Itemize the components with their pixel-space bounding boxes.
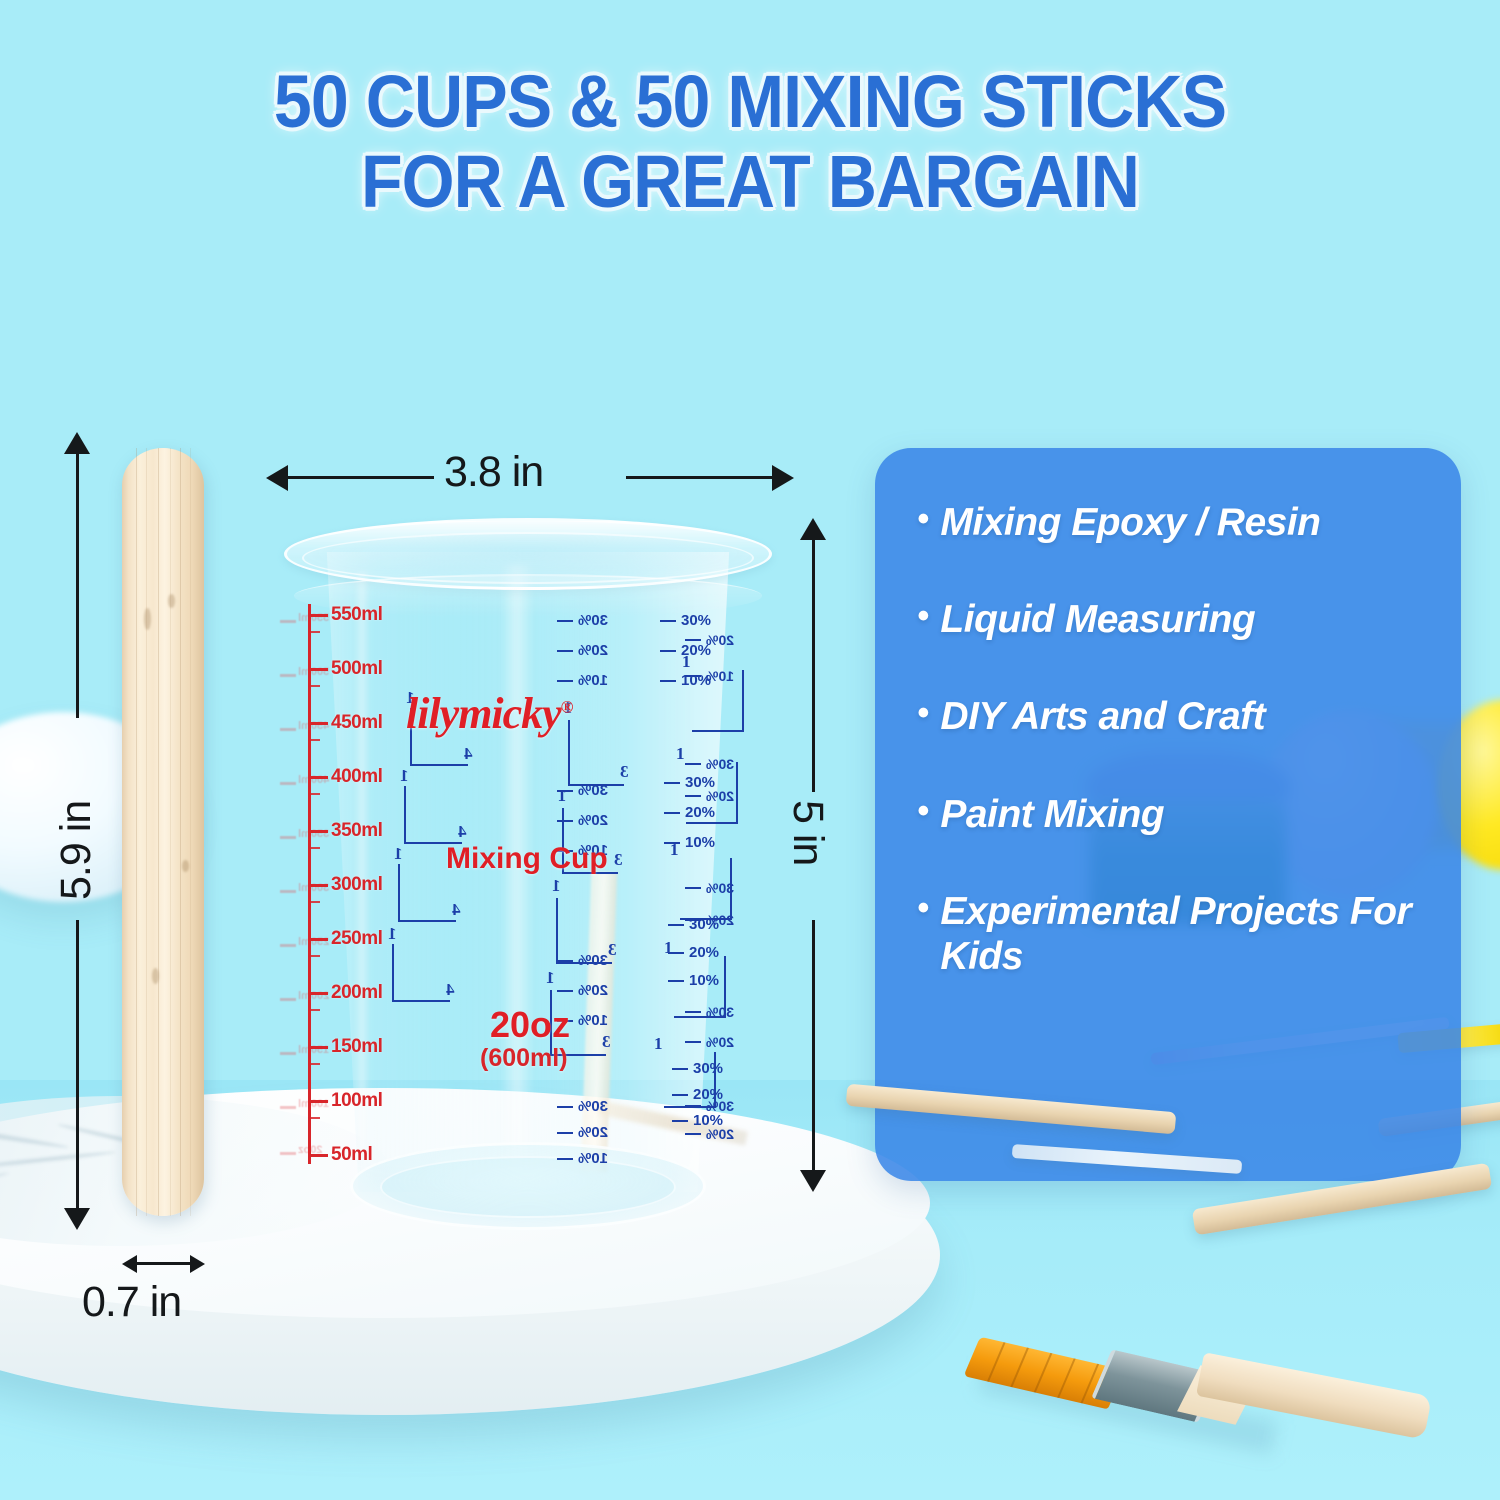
bullet-icon: • — [917, 792, 928, 831]
feature-list-item: • Experimental Projects For Kids — [917, 889, 1427, 979]
ml-label: 50ml — [331, 1144, 372, 1166]
cup-capacity-oz: 20oz — [490, 1004, 570, 1046]
ml-label: 150ml — [331, 1036, 382, 1058]
ml-label: 550ml — [331, 604, 382, 626]
percent-label: 20% — [578, 642, 608, 659]
ml-label: 450ml — [331, 712, 382, 734]
feature-list-item: • DIY Arts and Craft — [917, 694, 1427, 739]
percent-label: 30% — [578, 612, 608, 629]
cup-capacity-ml: (600ml) — [480, 1044, 568, 1073]
feature-panel: • Mixing Epoxy / Resin • Liquid Measurin… — [875, 448, 1461, 1181]
wooden-mixing-stick — [122, 448, 204, 1216]
paint-brush — [960, 1318, 1430, 1448]
bullet-icon: • — [917, 500, 928, 539]
dimension-label: 3.8 in — [444, 448, 543, 497]
feature-list-item: • Paint Mixing — [917, 792, 1427, 837]
feature-list: • Mixing Epoxy / Resin • Liquid Measurin… — [917, 500, 1427, 979]
product-scene: 550ml 500ml 450ml 400ml 350ml 300ml 250m… — [0, 0, 1500, 1500]
headline-line-1: 50 CUPS & 50 MIXING STICKS — [60, 62, 1440, 142]
ml-label: 200ml — [331, 982, 382, 1004]
ml-label: 300ml — [331, 874, 382, 896]
measuring-cup: 550ml 500ml 450ml 400ml 350ml 300ml 250m… — [268, 512, 788, 1212]
ml-label: 500ml — [331, 658, 382, 680]
percent-label: 10% — [693, 1112, 723, 1129]
percent-label: 20% — [578, 1124, 608, 1141]
ml-label: 100ml — [331, 1090, 382, 1112]
page-title: 50 CUPS & 50 MIXING STICKS FOR A GREAT B… — [60, 62, 1440, 222]
dimension-label: 5 in — [783, 800, 832, 865]
dimension-label: 0.7 in — [82, 1278, 181, 1327]
ml-label: 250ml — [331, 928, 382, 950]
bullet-icon: • — [917, 597, 928, 636]
feature-list-item: • Mixing Epoxy / Resin — [917, 500, 1427, 545]
feature-label: DIY Arts and Craft — [940, 694, 1265, 739]
bullet-icon: • — [917, 889, 928, 928]
headline-line-2: FOR A GREAT BARGAIN — [60, 142, 1440, 222]
dimension-label: 5.9 in — [52, 801, 101, 900]
percent-label: 10% — [578, 672, 608, 689]
bullet-icon: • — [917, 694, 928, 733]
percent-label: 10% — [685, 834, 715, 851]
cup-subtitle: Mixing Cup — [446, 842, 608, 876]
percent-label: 30% — [578, 1098, 608, 1115]
percent-label: 10% — [578, 1150, 608, 1167]
feature-list-item: • Liquid Measuring — [917, 597, 1427, 642]
brand-logo: lilymicky® — [406, 688, 572, 739]
brand-name: lilymicky — [406, 689, 561, 738]
percent-label: 30% — [681, 612, 711, 629]
feature-label: Paint Mixing — [940, 792, 1164, 837]
feature-label: Liquid Measuring — [940, 597, 1255, 642]
ml-label: 400ml — [331, 766, 382, 788]
feature-label: Experimental Projects For Kids — [940, 889, 1427, 979]
feature-label: Mixing Epoxy / Resin — [940, 500, 1320, 545]
ml-label: 350ml — [331, 820, 382, 842]
registered-trademark-icon: ® — [561, 697, 573, 716]
